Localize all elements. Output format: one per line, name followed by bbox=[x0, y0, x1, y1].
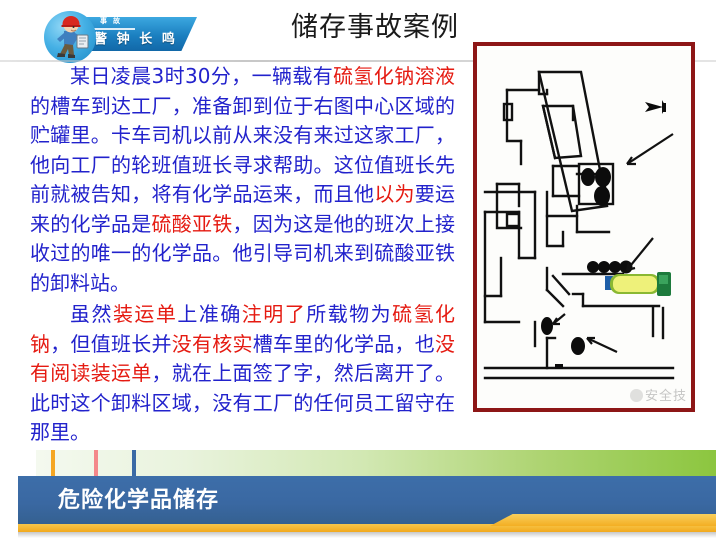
footer-orange-wedge bbox=[490, 514, 716, 526]
warning-bell-logo: 事 故 警 钟 长 鸣 bbox=[22, 6, 197, 58]
safety-worker-mascot-icon bbox=[44, 11, 96, 63]
footer-tick-pink bbox=[94, 450, 98, 476]
body-text-run: 虽然 bbox=[70, 302, 113, 326]
logo-big-text: 警 钟 长 鸣 bbox=[94, 31, 178, 47]
highlighted-text-run: 硫酸亚铁 bbox=[152, 212, 233, 236]
case-study-text-block: 某日凌晨3时30分，一辆载有硫氢化钠溶液的槽车到达工厂，准备卸到位于右图中心区域… bbox=[30, 62, 455, 450]
leak-marker-icon bbox=[541, 317, 553, 335]
body-text-run: 槽车里的化学品，也 bbox=[253, 332, 435, 356]
case-paragraph-1: 某日凌晨3时30分，一辆载有硫氢化钠溶液的槽车到达工厂，准备卸到位于右图中心区域… bbox=[30, 62, 455, 298]
case-paragraph-2: 虽然装运单上准确注明了所载物为硫氢化钠，但值班长并没有核实槽车里的化学品，也没有… bbox=[30, 300, 455, 448]
highlighted-text-run: 装运单 bbox=[113, 302, 177, 326]
highlighted-text-run: 注明了 bbox=[242, 302, 306, 326]
footer-section-title: 危险化学品储存 bbox=[58, 486, 219, 516]
footer-drop-shadow bbox=[18, 532, 716, 538]
highlighted-text-run: 没有核实 bbox=[172, 332, 253, 356]
footer-tick-blue bbox=[132, 450, 136, 476]
leak-marker-icon bbox=[555, 364, 563, 369]
leak-marker-icon bbox=[571, 337, 585, 355]
highlighted-text-run: 以为 bbox=[374, 182, 415, 206]
plant-layout-diagram: 安全技 bbox=[473, 42, 695, 412]
tanker-truck-icon bbox=[605, 272, 671, 296]
highlighted-text-run: 硫氢化钠溶液 bbox=[333, 64, 455, 88]
footer-tick-orange bbox=[51, 450, 55, 476]
slide-footer: 危险化学品储存 bbox=[0, 428, 716, 540]
page-title: 储存事故案例 bbox=[250, 10, 500, 44]
logo-small-text: 事 故 bbox=[100, 17, 122, 27]
body-text-run: 某日凌晨3时30分，一辆载有 bbox=[70, 64, 333, 88]
slide-canvas: 事 故 警 钟 长 鸣 bbox=[0, 0, 716, 540]
logo-banner-underline bbox=[90, 28, 135, 30]
body-text-run: 上准确 bbox=[177, 302, 241, 326]
body-text-run: 所载物为 bbox=[306, 302, 392, 326]
body-text-run: ，但值班长并 bbox=[50, 332, 172, 356]
footer-green-gradient-strip bbox=[36, 450, 716, 476]
